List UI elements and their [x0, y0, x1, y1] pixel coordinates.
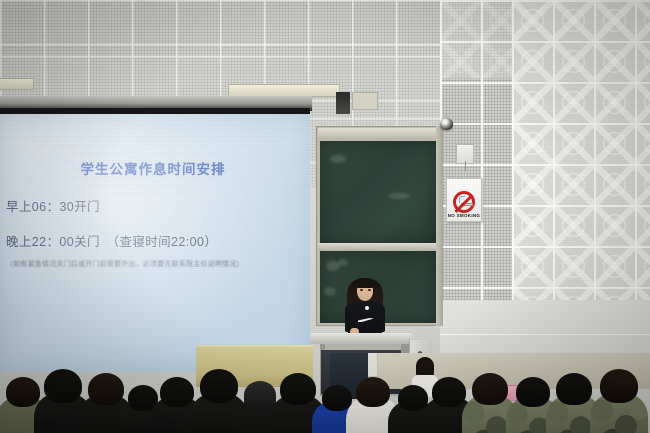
projection-screen[interactable]: 学生公寓作息时间安排 早上06：30开门 晚上22：00关门 （查寝时间22:0… — [0, 114, 310, 372]
audience-member-head — [398, 385, 428, 411]
audience-member-head — [44, 369, 82, 403]
no-smoking-label: NO SMOKING — [447, 213, 481, 218]
wall-panel-diamond-upper — [440, 0, 512, 78]
audience-foreground — [0, 353, 650, 433]
chalkboard-top-rail — [318, 128, 438, 139]
audience-member-head — [88, 373, 124, 405]
audience-member-head — [556, 373, 592, 405]
audience-member-head — [160, 377, 194, 407]
speaker-fringe — [356, 280, 374, 288]
slide-footnote: （如有紧急情况关门后或开门前需要外出，必须要先联系院主任说明情况） — [6, 259, 244, 269]
wall-bracket-plate — [352, 92, 378, 110]
wall-box-wire — [465, 161, 466, 171]
audience-member-head — [432, 377, 466, 407]
speaker-shirt-dot-graphic — [365, 306, 369, 310]
presentation-slide: 学生公寓作息时间安排 早上06：30开门 晚上22：00关门 （查寝时间22:0… — [0, 114, 310, 372]
audience-member-head — [6, 377, 40, 407]
audience-member-head — [200, 369, 238, 403]
audience-member-head — [356, 377, 390, 407]
wall-light-fixture-left — [0, 78, 34, 90]
speaker-shirt-swoosh-graphic — [358, 314, 374, 323]
audience-member-head — [244, 381, 276, 409]
speaker-person — [343, 276, 387, 336]
projector-mount-bracket — [336, 92, 350, 114]
audience-member-head — [280, 373, 316, 405]
podium-top-surface — [310, 333, 412, 344]
slide-line-morning: 早上06：30开门 — [6, 196, 100, 215]
slide-line-evening: 晚上22：00关门 （查寝时间22:00） — [6, 231, 217, 250]
lecture-hall-photo: 学生公寓作息时间安排 早上06：30开门 晚上22：00关门 （查寝时间22:0… — [0, 0, 650, 433]
chalkboard-upper-panel — [320, 141, 436, 243]
no-smoking-sign: NO SMOKING — [446, 178, 482, 222]
chalkboard-middle-rail — [318, 243, 438, 251]
slide-title: 学生公寓作息时间安排 — [0, 158, 310, 178]
chalkboard-side-trim — [436, 126, 443, 326]
security-camera-icon — [440, 118, 453, 130]
audience-member-head — [516, 377, 550, 407]
audience-member-head — [322, 385, 352, 411]
wall-panel-diamond-texture — [512, 0, 650, 302]
audience-member-head — [472, 373, 508, 405]
audience-member-head — [600, 369, 638, 403]
